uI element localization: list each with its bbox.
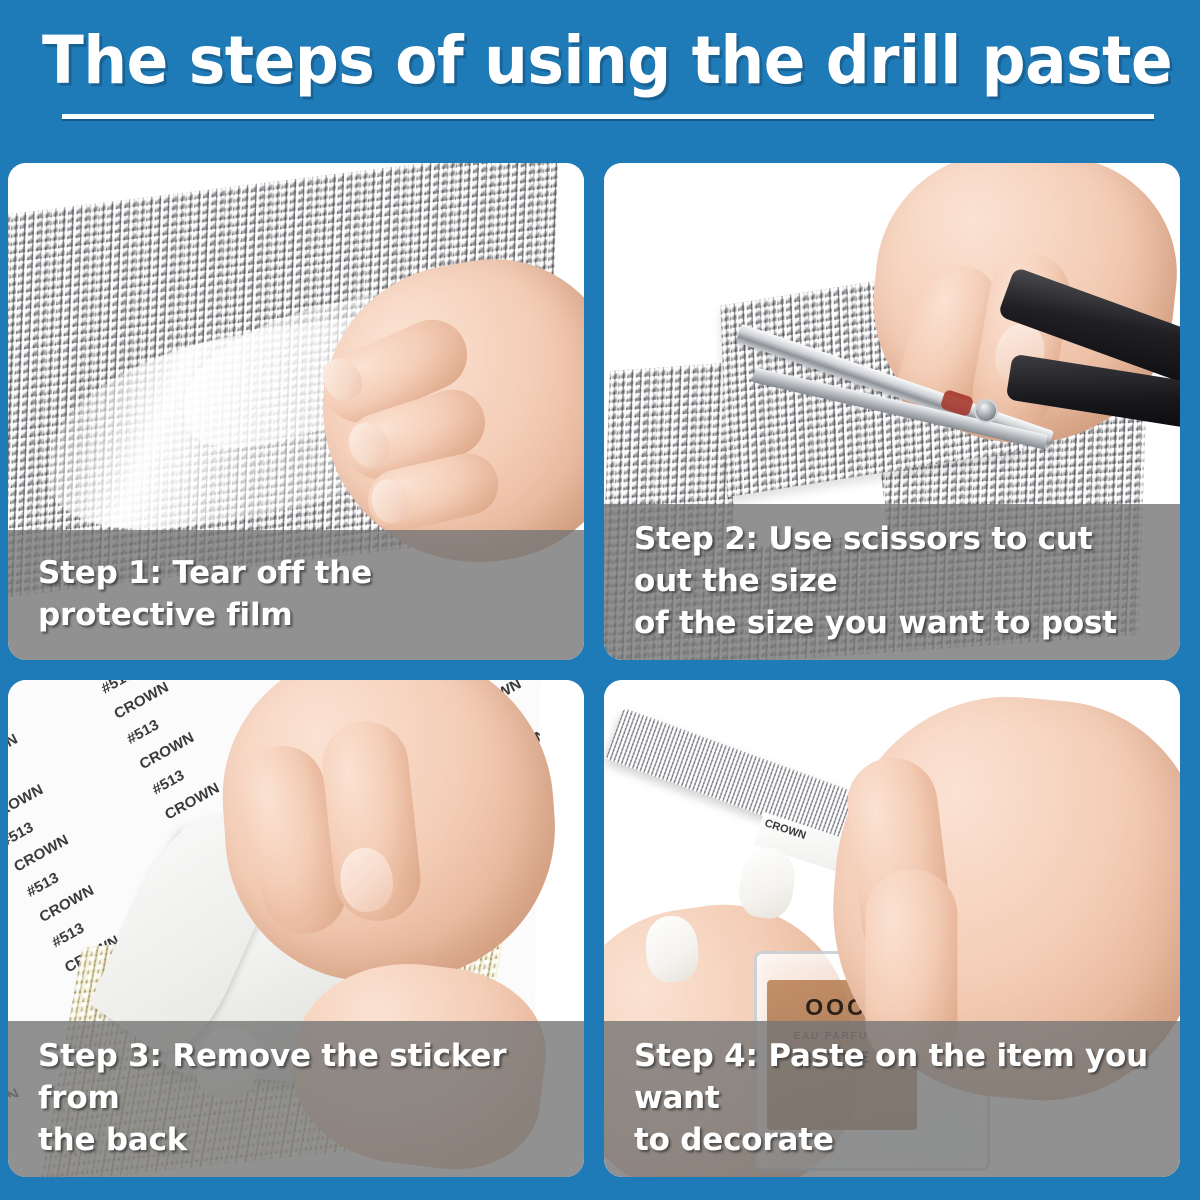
step-1-caption-text: Step 1: Tear off the protective film	[38, 552, 558, 636]
scissors-icon	[870, 273, 1180, 503]
step-3-caption: Step 3: Remove the sticker from the back	[8, 1021, 584, 1177]
step-4-caption: Step 4: Paste on the item you want to de…	[604, 1021, 1180, 1177]
step-1-panel[interactable]: Step 1: Tear off the protective film	[8, 163, 584, 660]
step-1-caption: Step 1: Tear off the protective film	[8, 530, 584, 660]
steps-grid: Step 1: Tear off the protective film	[8, 163, 1192, 1177]
step-4-panel[interactable]: OOC EAU PARFUM RFUME CROWN Step 4: Paste…	[604, 680, 1180, 1177]
page-header: The steps of using the drill paste	[0, 0, 1200, 150]
step-4-caption-line-1: Step 4: Paste on the item you want	[634, 1035, 1154, 1119]
page-title: The steps of using the drill paste	[42, 18, 1158, 104]
title-underline	[62, 114, 1154, 119]
step-2-caption-line-1: Step 2: Use scissors to cut out the size	[634, 518, 1154, 602]
step-2-panel[interactable]: Step 2: Use scissors to cut out the size…	[604, 163, 1180, 660]
step-2-caption-line-2: of the size you want to post	[634, 602, 1154, 644]
step-3-caption-line-2: the back	[38, 1119, 558, 1161]
step-4-caption-line-2: to decorate	[634, 1119, 1154, 1161]
step-3-panel[interactable]: CROWN#513CROWN#513CROWN#513CROWN#513CROW…	[8, 680, 584, 1177]
step-2-caption: Step 2: Use scissors to cut out the size…	[604, 504, 1180, 660]
step-3-caption-line-1: Step 3: Remove the sticker from	[38, 1035, 558, 1119]
